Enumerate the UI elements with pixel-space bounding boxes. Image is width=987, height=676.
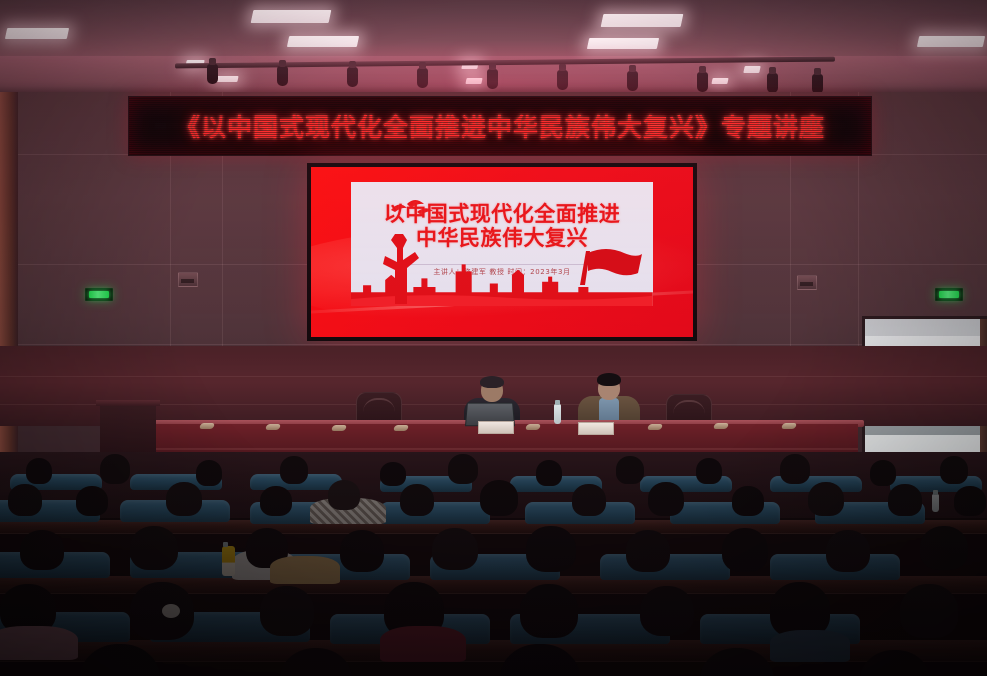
audience-member: [826, 530, 870, 572]
audience-member: [166, 482, 202, 516]
led-banner-text: 《以中国式现代化全面推进中华民族伟大复兴》专题讲座: [175, 108, 825, 144]
audience-member: [400, 484, 434, 516]
audience-member: [520, 584, 578, 638]
spotlight: [417, 68, 428, 88]
audience-member: [954, 486, 986, 516]
audience-member: [328, 480, 360, 510]
audience-member: [780, 454, 810, 484]
audience-member: [616, 456, 644, 484]
speaker-right-hair: [597, 373, 621, 386]
audience-member-red-top: [380, 626, 466, 662]
speaker-right: [578, 372, 640, 426]
audience-member: [536, 460, 562, 486]
ceiling-panel-light: [5, 28, 69, 39]
audience-member: [76, 486, 108, 516]
exit-sign-glow: [89, 291, 109, 298]
name-placard-right: [578, 422, 614, 435]
audience-member: [26, 458, 52, 484]
ceiling: [0, 0, 987, 96]
audience-member: [722, 528, 768, 572]
audience-member: [8, 484, 42, 516]
speaker-left-hair: [480, 376, 504, 388]
spotlight: [277, 66, 288, 86]
audience-member: [626, 530, 670, 572]
wall-mounted-box-left: [178, 272, 198, 287]
hair-tie: [162, 604, 180, 618]
exit-sign-glow: [939, 291, 959, 298]
ceiling-panel-light: [287, 36, 359, 47]
wall-mounted-box-right: [797, 275, 817, 290]
lecture-hall-scene: 《以中国式现代化全面推进中华民族伟大复兴》专题讲座 以中国式现代化全面推进 中华…: [0, 0, 987, 676]
water-bottle: [932, 494, 939, 512]
audience-member: [920, 526, 968, 570]
audience-member: [940, 456, 968, 484]
ceiling-panel-light: [743, 66, 760, 73]
audience-member: [380, 462, 406, 486]
audience-member: [572, 484, 606, 516]
head-table-edge: [118, 448, 858, 450]
presentation-slide: 以中国式现代化全面推进 中华民族伟大复兴 主讲人：骆建军 教授 时间：2023年…: [311, 167, 693, 337]
led-banner: 《以中国式现代化全面推进中华民族伟大复兴》专题讲座: [128, 96, 872, 156]
audience-member: [196, 460, 222, 486]
audience-member-blue-top: [770, 630, 850, 662]
audience-member: [888, 484, 922, 516]
audience-member: [526, 526, 576, 572]
audience-member: [696, 458, 722, 484]
audience-member: [340, 530, 384, 572]
audience-member-tan-coat: [270, 556, 340, 584]
ceiling-panel-light: [215, 76, 238, 82]
spotlight: [207, 64, 218, 84]
audience-member: [640, 586, 694, 636]
audience-member: [900, 584, 958, 638]
ceiling-panel-light: [711, 78, 728, 84]
audience-member: [732, 486, 764, 516]
spotlight: [347, 67, 358, 87]
ceiling-panel-light: [251, 10, 332, 23]
wall-seam: [0, 344, 987, 345]
audience-member: [130, 526, 178, 570]
monument-figure-graphic: [369, 230, 431, 304]
yellow-bottle: [222, 546, 235, 576]
audience-member: [100, 454, 130, 484]
audience-member-pink-top: [0, 626, 78, 660]
audience-member: [648, 482, 684, 516]
slide-content-panel: 以中国式现代化全面推进 中华民族伟大复兴 主讲人：骆建军 教授 时间：2023年…: [351, 182, 653, 306]
audience-member: [260, 586, 314, 636]
audience-member: [280, 456, 308, 484]
ceiling-panel-light: [601, 14, 684, 27]
projection-screen: 以中国式现代化全面推进 中华民族伟大复兴 主讲人：骆建军 教授 时间：2023年…: [307, 163, 697, 341]
audience-member: [260, 486, 292, 516]
water-bottle: [554, 404, 561, 424]
audience-area: [0, 452, 987, 676]
ceiling-panel-light: [917, 36, 985, 47]
ceiling-panel-light: [465, 78, 482, 84]
lectern-top: [96, 400, 160, 406]
red-flag-graphic: [576, 245, 644, 285]
audience-member: [480, 480, 518, 516]
audience-member: [870, 460, 896, 486]
seat: [380, 502, 490, 524]
ceiling-panel-light: [587, 38, 659, 49]
audience-member: [20, 530, 64, 570]
audience-member: [432, 528, 478, 570]
name-placard-left: [478, 421, 514, 434]
audience-member: [448, 454, 478, 484]
audience-member: [808, 482, 844, 516]
slide-title-line-1: 以中国式现代化全面推进: [351, 202, 653, 226]
exit-sign-left: [85, 288, 113, 301]
exit-sign-right: [935, 288, 963, 301]
